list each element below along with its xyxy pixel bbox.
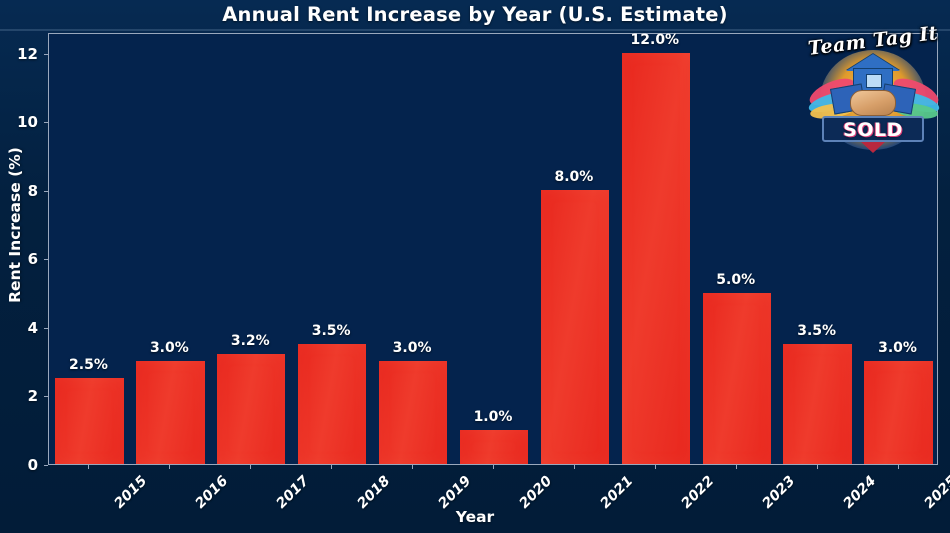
bar-2015 xyxy=(55,378,123,464)
y-axis-tick-label: 6 xyxy=(0,250,38,268)
house-window-icon xyxy=(866,74,882,88)
x-axis-tick-label-2021: 2021 xyxy=(597,473,636,512)
chart-title: Annual Rent Increase by Year (U.S. Estim… xyxy=(0,3,950,26)
handshake-icon xyxy=(850,90,896,116)
bar-2016 xyxy=(136,361,204,464)
bar-2020 xyxy=(460,430,528,464)
x-axis-tick-label-2017: 2017 xyxy=(274,473,313,512)
x-axis-label: Year xyxy=(0,508,950,526)
y-axis-tick-mark xyxy=(44,396,48,397)
bar-value-label: 3.5% xyxy=(291,323,372,339)
y-axis-tick-mark xyxy=(44,122,48,123)
y-axis-tick-mark xyxy=(44,54,48,55)
bar-2018 xyxy=(298,344,366,464)
bar-2023 xyxy=(703,293,771,464)
bar-value-label: 12.0% xyxy=(614,32,695,48)
bar-value-label: 3.0% xyxy=(372,340,453,356)
chart-figure: Annual Rent Increase by Year (U.S. Estim… xyxy=(0,0,950,533)
y-axis-label: Rent Increase (%) xyxy=(6,25,24,425)
bar-value-label: 3.0% xyxy=(129,340,210,356)
y-axis-tick-label: 10 xyxy=(0,113,38,131)
x-axis-tick-label-2015: 2015 xyxy=(112,473,151,512)
y-axis-tick-label: 4 xyxy=(0,319,38,337)
bar-value-label: 5.0% xyxy=(695,272,776,288)
brand-logo: SOLD Team Tag It xyxy=(806,24,940,158)
x-axis-tick-label-2020: 2020 xyxy=(516,473,555,512)
x-axis-tick-label-2016: 2016 xyxy=(193,473,232,512)
x-axis-tick-mark xyxy=(250,465,251,469)
bar-value-label: 3.2% xyxy=(210,333,291,349)
x-axis-tick-mark xyxy=(817,465,818,469)
x-axis-tick-mark xyxy=(88,465,89,469)
plot-area xyxy=(48,33,938,465)
bar-2025 xyxy=(864,361,932,464)
bar-value-label: 8.0% xyxy=(533,169,614,185)
y-axis-tick-mark xyxy=(44,465,48,466)
x-axis-tick-label-2018: 2018 xyxy=(355,473,394,512)
sold-banner-text: SOLD xyxy=(822,117,924,143)
y-axis-tick-label: 2 xyxy=(0,387,38,405)
bar-2021 xyxy=(541,190,609,464)
x-axis-tick-mark xyxy=(574,465,575,469)
x-axis-tick-mark xyxy=(493,465,494,469)
bar-value-label: 2.5% xyxy=(48,357,129,373)
bar-2022 xyxy=(622,53,690,464)
y-axis-tick-label: 0 xyxy=(0,456,38,474)
x-axis-tick-label-2023: 2023 xyxy=(759,473,798,512)
y-axis-tick-mark xyxy=(44,259,48,260)
x-axis-tick-label-2025: 2025 xyxy=(921,473,950,512)
bar-2024 xyxy=(783,344,851,464)
bar-value-label: 1.0% xyxy=(453,409,534,425)
y-axis-tick-label: 12 xyxy=(0,45,38,63)
bar-2017 xyxy=(217,354,285,464)
bar-value-label: 3.0% xyxy=(857,340,938,356)
x-axis-tick-label-2019: 2019 xyxy=(435,473,474,512)
x-axis-tick-mark xyxy=(331,465,332,469)
x-axis-tick-mark xyxy=(736,465,737,469)
y-axis-tick-mark xyxy=(44,191,48,192)
x-axis-tick-mark xyxy=(655,465,656,469)
x-axis-tick-label-2024: 2024 xyxy=(840,473,879,512)
y-axis-tick-mark xyxy=(44,328,48,329)
x-axis-tick-label-2022: 2022 xyxy=(678,473,717,512)
bar-2019 xyxy=(379,361,447,464)
x-axis-tick-mark xyxy=(412,465,413,469)
bar-value-label: 3.5% xyxy=(776,323,857,339)
y-axis-tick-label: 8 xyxy=(0,182,38,200)
x-axis-tick-mark xyxy=(898,465,899,469)
x-axis-tick-mark xyxy=(169,465,170,469)
